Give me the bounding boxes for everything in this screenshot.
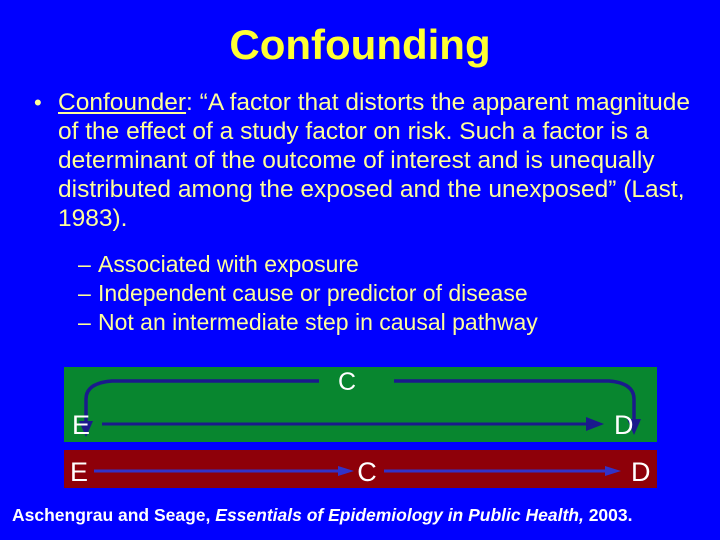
confounder-to-exposure-arc — [86, 381, 319, 427]
citation-footer: Aschengrau and Seage, Essentials of Epid… — [12, 505, 633, 526]
dash-icon: – — [78, 308, 98, 337]
main-bullet: • Confounder: “A factor that distorts th… — [34, 88, 694, 233]
dash-icon: – — [78, 279, 98, 308]
node-label-confounder: C — [338, 368, 356, 396]
node-label-exposure: E — [70, 457, 88, 487]
page-title: Confounding — [0, 24, 720, 66]
bullet-dot-icon: • — [34, 88, 58, 117]
arrowhead-right-disease-icon — [605, 466, 621, 476]
sub-bullet-label: Not an intermediate step in causal pathw… — [98, 308, 698, 337]
citation-year: 2003. — [589, 505, 633, 525]
sub-bullet-list: – Associated with exposure – Independent… — [78, 250, 698, 337]
node-label-exposure: E — [72, 410, 90, 440]
citation-authors: Aschengrau and Seage, — [12, 505, 210, 525]
sub-bullet-label: Independent cause or predictor of diseas… — [98, 279, 698, 308]
node-label-disease: D — [614, 410, 634, 440]
main-bullet-text: Confounder: “A factor that distorts the … — [58, 88, 694, 233]
arrowhead-right-confounder-icon — [338, 466, 354, 476]
intermediate-step-diagram-svg: E C D — [64, 450, 657, 488]
slide: Confounding • Confounder: “A factor that… — [0, 0, 720, 540]
confounder-term: Confounder — [58, 89, 186, 116]
dash-icon: – — [78, 250, 98, 279]
sub-bullet-label: Associated with exposure — [98, 250, 698, 279]
confounding-diagram: E D C — [64, 367, 657, 442]
node-label-confounder: C — [357, 457, 377, 487]
list-item: – Independent cause or predictor of dise… — [78, 279, 698, 308]
intermediate-step-diagram: E C D — [64, 450, 657, 488]
main-bullet-block: • Confounder: “A factor that distorts th… — [34, 88, 694, 233]
arrowhead-right-disease-icon — [586, 417, 604, 431]
node-label-disease: D — [631, 457, 651, 487]
confounder-to-disease-arc — [394, 381, 634, 425]
confounding-diagram-svg: E D C — [64, 367, 657, 442]
citation-book-title: Essentials of Epidemiology in Public Hea… — [215, 505, 584, 525]
list-item: – Not an intermediate step in causal pat… — [78, 308, 698, 337]
list-item: – Associated with exposure — [78, 250, 698, 279]
